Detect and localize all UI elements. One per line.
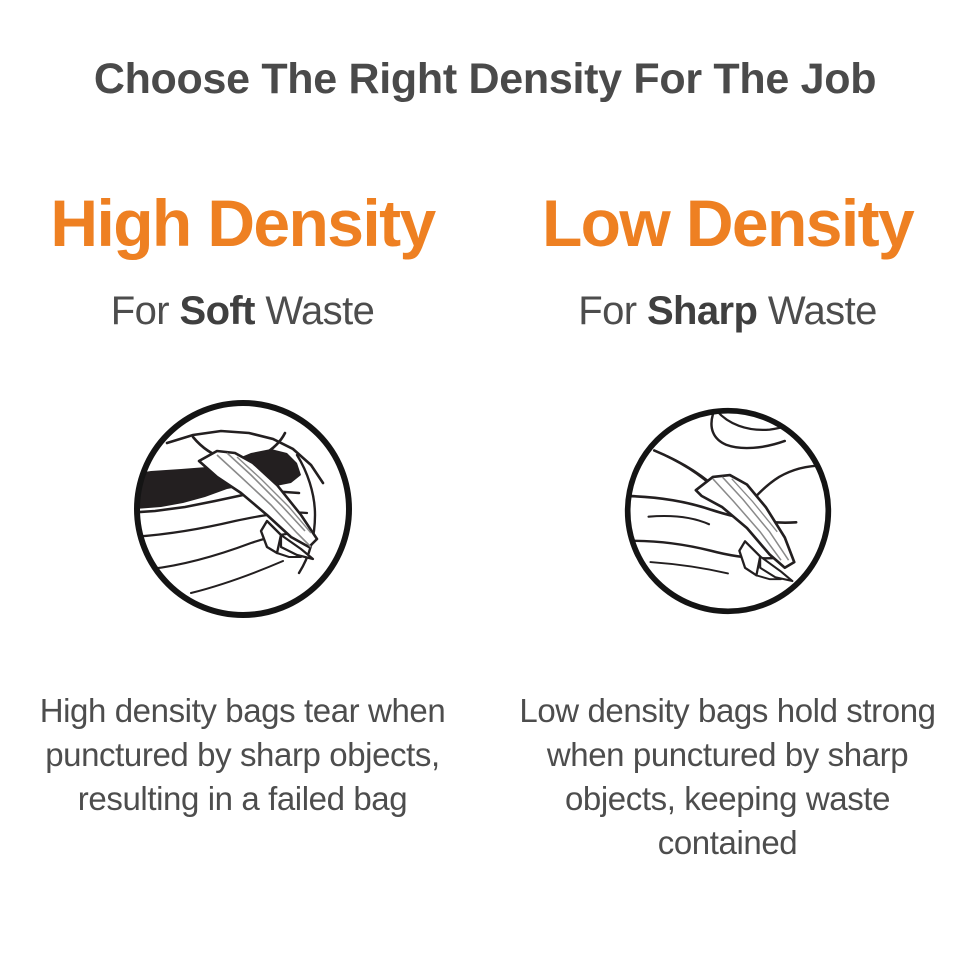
subtitle-suffix: Waste [757, 289, 876, 333]
illustration-high-density [131, 397, 355, 621]
subtitle-suffix: Waste [255, 289, 374, 333]
bag-torn-by-sharp-object-icon [131, 397, 355, 621]
comparison-columns: High Density For Soft Waste [0, 185, 970, 864]
column-low-density: Low Density For Sharp Waste [485, 185, 970, 864]
heading-high-density: High Density [50, 185, 434, 263]
subtitle-emphasis: Sharp [647, 289, 757, 333]
page-title: Choose The Right Density For The Job [0, 55, 970, 104]
caption-low-density: Low density bags hold strong when punctu… [505, 689, 950, 865]
subtitle-emphasis: Soft [179, 289, 254, 333]
heading-low-density: Low Density [542, 185, 913, 263]
subtitle-prefix: For [578, 289, 647, 333]
subtitle-low-density: For Sharp Waste [578, 287, 876, 335]
bag-holding-strong-icon [622, 405, 834, 617]
column-high-density: High Density For Soft Waste [0, 185, 485, 864]
illustration-low-density [622, 405, 834, 617]
subtitle-high-density: For Soft Waste [111, 287, 374, 335]
caption-high-density: High density bags tear when punctured by… [28, 689, 458, 821]
subtitle-prefix: For [111, 289, 180, 333]
infographic-poster: Choose The Right Density For The Job Hig… [0, 0, 970, 971]
